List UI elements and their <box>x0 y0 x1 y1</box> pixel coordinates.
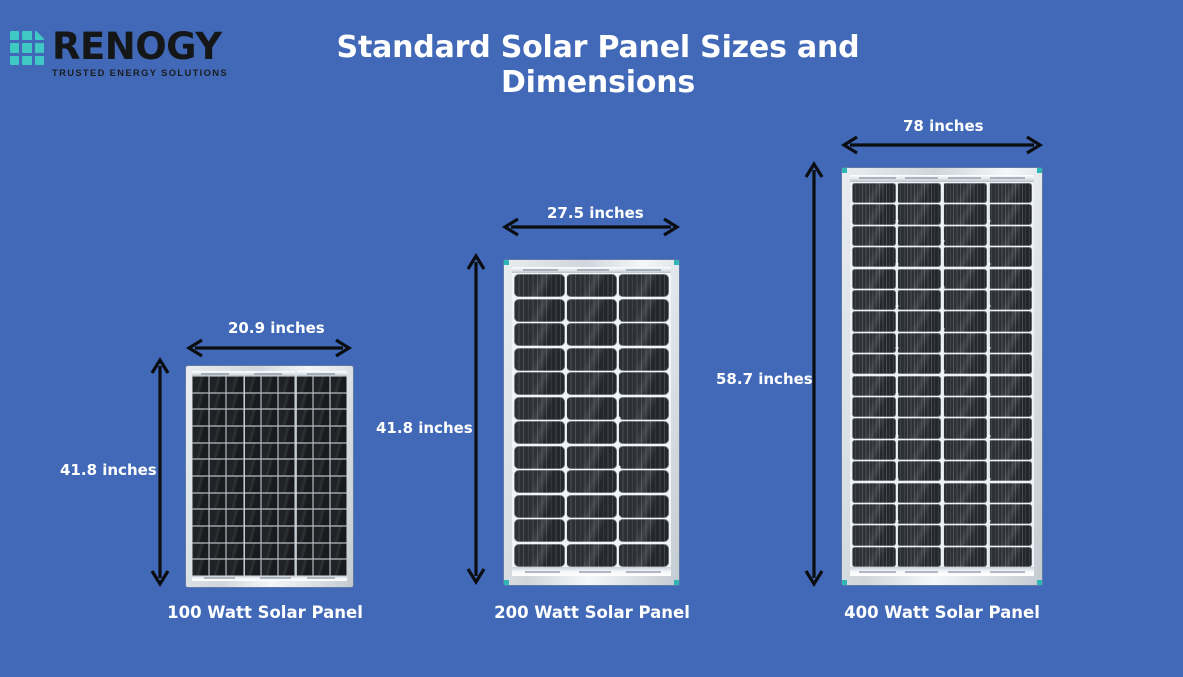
panel-corner-marker <box>842 168 847 173</box>
panel-corner-marker <box>674 260 679 265</box>
solar-panel-400w <box>842 168 1042 585</box>
panel-2-height-label: 41.8 inches <box>376 419 473 437</box>
panel-corner-marker <box>674 580 679 585</box>
panel-cell-grid <box>192 376 347 576</box>
panel-bottom-rail <box>850 567 1034 576</box>
panel-busbar <box>565 274 567 567</box>
panel-corner-marker <box>504 260 509 265</box>
panel-glass <box>192 371 347 581</box>
panel-busbar <box>618 274 620 567</box>
panel-1-caption: 100 Watt Solar Panel <box>165 603 365 622</box>
panel-bottom-rail <box>192 576 347 581</box>
panel-2-height-arrow <box>467 254 485 584</box>
panel-1-width-label: 20.9 inches <box>228 319 325 337</box>
panel-bottom-rail <box>512 567 671 576</box>
renogy-logo: RENOGY TRUSTED ENERGY SOLUTIONS <box>10 28 228 79</box>
panel-3-caption: 400 Watt Solar Panel <box>842 603 1042 622</box>
solar-panel-200w <box>504 260 679 585</box>
panel-corner-marker <box>1037 168 1042 173</box>
infographic-canvas: RENOGY TRUSTED ENERGY SOLUTIONS Standard… <box>0 0 1183 677</box>
panel-busbar <box>295 371 297 581</box>
panel-top-rail <box>512 267 671 273</box>
panel-3-width-label: 78 inches <box>903 117 984 135</box>
panel-cell-grid <box>514 274 669 567</box>
brand-tagline: TRUSTED ENERGY SOLUTIONS <box>52 67 228 79</box>
panel-3-height-arrow <box>805 162 823 586</box>
brand-name: RENOGY <box>52 28 228 66</box>
grid-logo-icon <box>10 31 44 65</box>
panel-corner-marker <box>1037 580 1042 585</box>
panel-2-caption: 200 Watt Solar Panel <box>492 603 692 622</box>
panel-busbar <box>942 183 944 567</box>
page-title: Standard Solar Panel Sizes and Dimension… <box>268 30 928 100</box>
panel-2-width-arrow <box>502 218 680 236</box>
panel-top-rail <box>850 175 1034 182</box>
panel-1-height-label: 41.8 inches <box>60 461 157 479</box>
panel-busbar <box>244 371 246 581</box>
panel-glass <box>512 267 671 576</box>
panel-3-width-arrow <box>841 136 1043 154</box>
panel-3-height-label: 58.7 inches <box>716 370 813 388</box>
panel-1-height-arrow <box>151 358 169 586</box>
panel-glass <box>850 175 1034 576</box>
solar-panel-100w <box>186 366 353 587</box>
logo-text-block: RENOGY TRUSTED ENERGY SOLUTIONS <box>52 28 228 79</box>
panel-busbar <box>896 183 898 567</box>
panel-corner-marker <box>504 580 509 585</box>
panel-busbar <box>988 183 990 567</box>
panel-corner-marker <box>842 580 847 585</box>
panel-1-width-arrow <box>186 339 352 357</box>
